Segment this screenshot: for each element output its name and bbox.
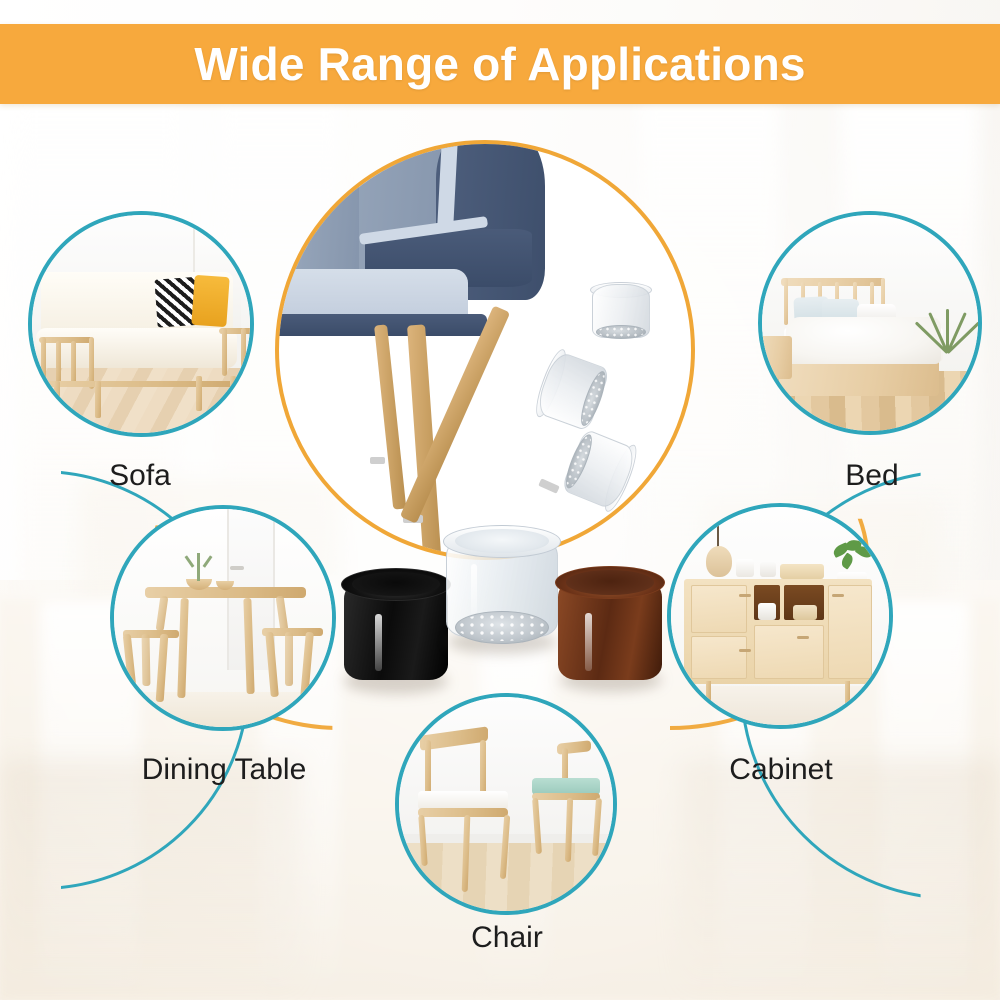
cabinet-scene [671,507,889,725]
application-circle-chair[interactable] [395,693,617,915]
plant-decoration [931,280,966,353]
hero-cap-bottom [561,428,639,511]
hero-armchair [279,144,584,358]
application-label-sofa: Sofa [40,461,240,491]
hero-cap-middle [533,350,610,432]
product-sample-clear-cap [446,527,558,637]
bed-scene [762,215,978,431]
infographic-root: Wide Range of Applications [0,0,1000,1000]
hero-cap-top [592,284,650,338]
product-sample-black-cap [344,570,448,680]
product-sample-brown-cap [558,568,662,680]
header-banner: Wide Range of Applications [0,24,1000,104]
application-label-cabinet: Cabinet [668,755,894,785]
application-circle-sofa[interactable] [28,211,254,437]
hero-application-circle[interactable] [275,140,695,560]
sofa-scene [32,215,250,433]
hero-scene [279,144,691,556]
chair-scene [399,697,613,911]
application-label-bed: Bed [772,461,972,491]
application-label-chair: Chair [396,923,618,953]
application-circle-bed[interactable] [758,211,982,435]
page-title: Wide Range of Applications [194,41,805,87]
application-circle-cabinet[interactable] [667,503,893,729]
application-label-dining-table: Dining Table [112,755,336,785]
